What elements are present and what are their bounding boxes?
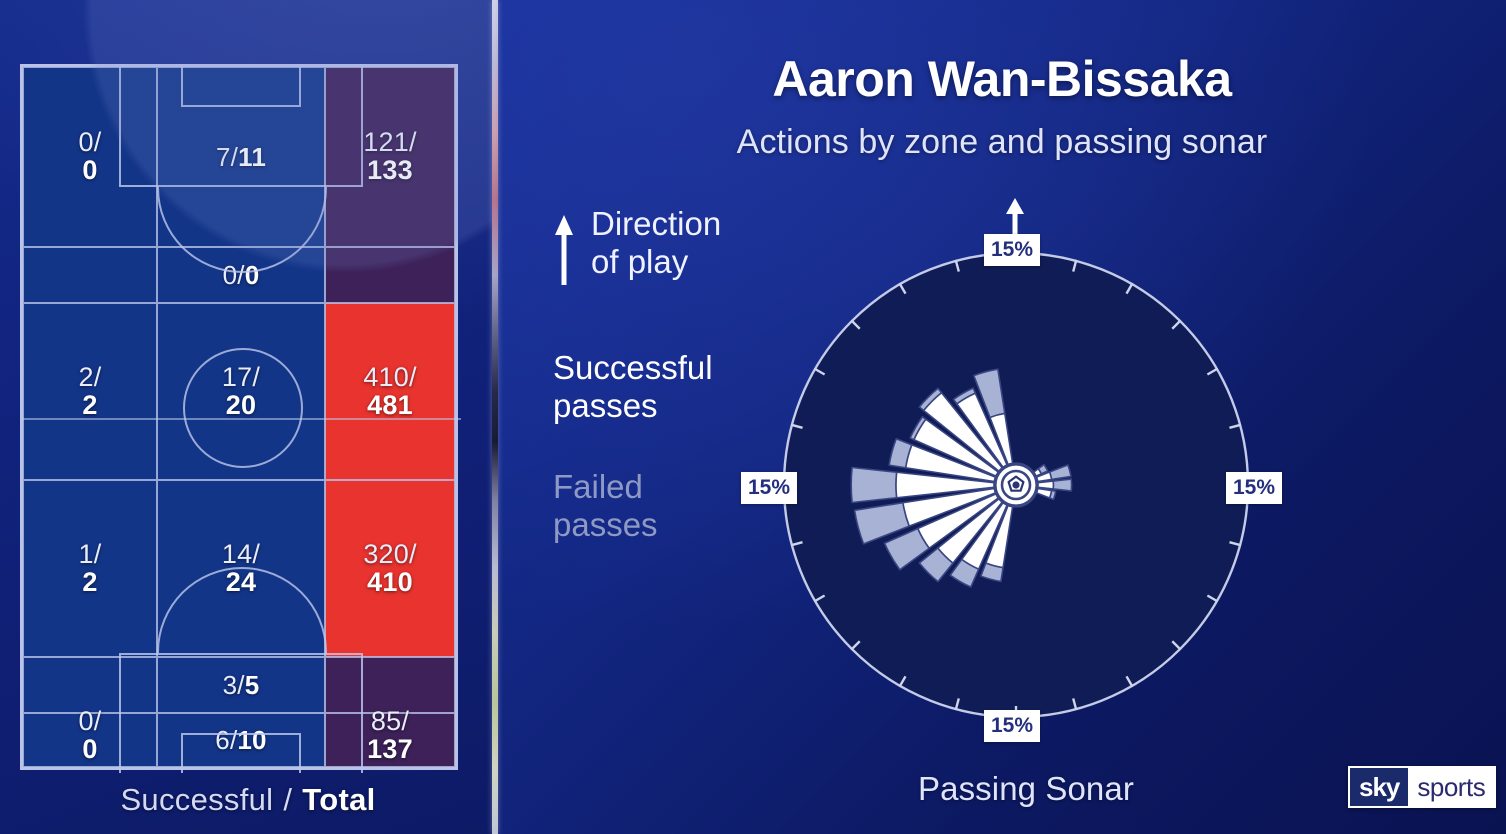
zone-value: 14/ 24	[222, 541, 260, 596]
dashboard-root: 0/ 0 7/11 121/ 133 0/0	[0, 0, 1506, 834]
legend-failed-line1: Failed	[553, 468, 643, 505]
sonar-caption: Passing Sonar	[918, 770, 1134, 808]
zone-value: 0/ 0	[79, 129, 102, 184]
pitch-legend: Successful/Total	[0, 782, 496, 818]
zone-upper-mid-arc[interactable]: 0/0	[157, 247, 325, 303]
up-arrow-icon	[553, 213, 575, 287]
pitch-legend-total: Total	[302, 782, 375, 817]
pitch-panel: 0/ 0 7/11 121/ 133 0/0	[0, 0, 496, 834]
zone-value: 85/ 137	[367, 708, 413, 763]
legend-successful-line2: passes	[553, 387, 658, 424]
zone-value: 3/5	[223, 672, 260, 699]
zone-value: 0/ 0	[79, 708, 102, 763]
zone-upper-mid-left[interactable]	[23, 247, 157, 303]
sky-logo-sports: sports	[1408, 768, 1494, 806]
zone-value: 0/0	[223, 262, 260, 289]
legend-failed-line2: passes	[553, 506, 658, 543]
panel-divider	[492, 0, 498, 834]
penalty-arc-top	[157, 187, 327, 273]
zone-value: 17/ 20	[222, 364, 260, 419]
zone-bottom-left[interactable]: 0/ 0	[23, 713, 157, 767]
zone-lower-mid-right[interactable]	[325, 657, 455, 713]
zone-value: 121/ 133	[363, 129, 416, 184]
passing-sonar-chart[interactable]: 15% 15% 15% 15%	[756, 195, 1276, 755]
sky-logo-sky: sky	[1350, 768, 1408, 806]
zone-value: 7/11	[216, 144, 266, 171]
sonar-tick-label-bottom: 15%	[984, 710, 1040, 742]
zone-upper-mid-right[interactable]	[325, 247, 455, 303]
six-yard-box-top	[181, 67, 301, 107]
zone-value: 2/ 2	[79, 364, 102, 419]
zone-top-left[interactable]: 0/ 0	[23, 67, 157, 247]
legend-direction-line1: Direction	[591, 205, 721, 242]
sonar-tick-label-top: 15%	[984, 234, 1040, 266]
zone-mid-high-left[interactable]: 2/ 2	[23, 303, 157, 480]
legend-direction-line2: of play	[591, 243, 688, 280]
football-icon	[995, 464, 1037, 506]
zone-mid-high-right[interactable]: 410/ 481	[325, 303, 455, 480]
sonar-wedge-successful[interactable]	[1038, 481, 1054, 489]
sonar-svg	[756, 195, 1276, 755]
zone-value: 6/10	[215, 727, 266, 754]
sonar-tick-label-left: 15%	[741, 472, 797, 504]
sonar-panel: Aaron Wan-Bissaka Actions by zone and pa…	[498, 0, 1506, 834]
zone-top-centre[interactable]: 7/11	[157, 67, 325, 247]
zone-bottom-centre[interactable]: 6/10	[157, 713, 325, 767]
zone-mid-low-right[interactable]: 320/ 410	[325, 480, 455, 657]
sonar-tick-label-right: 15%	[1226, 472, 1282, 504]
sonar-wedge-failed[interactable]	[1053, 479, 1071, 491]
penalty-area-top	[119, 67, 363, 187]
zone-value: 410/ 481	[363, 364, 416, 419]
pitch-legend-slash: /	[273, 782, 302, 817]
sonar-wedge-failed[interactable]	[851, 467, 896, 502]
pitch-legend-successful: Successful	[120, 782, 273, 817]
legend-successful-line1: Successful	[553, 349, 713, 386]
zone-mid-high-centre[interactable]: 17/ 20	[157, 303, 325, 480]
page-subtitle: Actions by zone and passing sonar	[498, 123, 1506, 162]
zone-value: 1/ 2	[79, 541, 102, 596]
direction-of-play-arrow-icon	[1002, 198, 1028, 238]
zone-mid-low-centre[interactable]: 14/ 24	[157, 480, 325, 657]
page-title: Aaron Wan-Bissaka	[498, 50, 1506, 108]
zone-bottom-right[interactable]: 85/ 137	[325, 713, 455, 767]
zone-bottom-arc[interactable]: 3/5	[157, 657, 325, 713]
zone-mid-low-left[interactable]: 1/ 2	[23, 480, 157, 657]
zone-value: 320/ 410	[363, 541, 416, 596]
sky-sports-logo: sky sports	[1348, 766, 1496, 808]
zone-lower-mid-left[interactable]	[23, 657, 157, 713]
pitch-diagram: 0/ 0 7/11 121/ 133 0/0	[20, 64, 458, 770]
zone-top-right[interactable]: 121/ 133	[325, 67, 455, 247]
legend-direction-of-play: Direction of play	[591, 205, 721, 280]
